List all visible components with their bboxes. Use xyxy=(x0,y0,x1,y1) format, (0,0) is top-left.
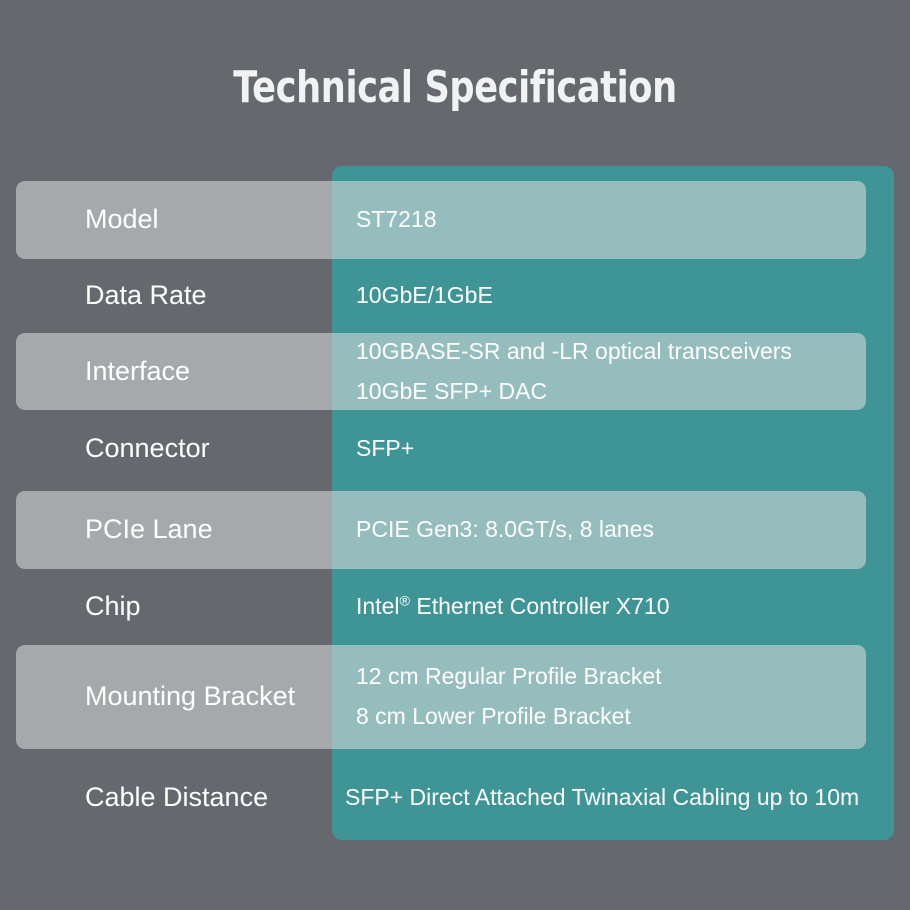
value-line: 10GbE SFP+ DAC xyxy=(356,372,886,412)
value-line: ST7218 xyxy=(356,200,886,240)
spec-label-mounting-bracket: Mounting Bracket xyxy=(85,645,325,749)
spec-value-mounting-bracket: 12 cm Regular Profile Bracket 8 cm Lower… xyxy=(356,645,886,749)
spec-value-connector: SFP+ xyxy=(356,410,886,488)
spec-value-model: ST7218 xyxy=(356,181,886,259)
table-row: PCIe Lane PCIE Gen3: 8.0GT/s, 8 lanes xyxy=(0,491,910,569)
table-row: Data Rate 10GbE/1GbE xyxy=(0,259,910,333)
specification-table: Model ST7218 Data Rate 10GbE/1GbE Interf… xyxy=(0,0,910,910)
table-row: Chip Intel® Ethernet Controller X710 xyxy=(0,569,910,645)
spec-label-data-rate: Data Rate xyxy=(85,259,325,333)
spec-label-connector: Connector xyxy=(85,410,325,488)
technical-specification-page: Technical Specification Model ST7218 Dat… xyxy=(0,0,910,910)
value-line: 10GBASE-SR and -LR optical transceivers xyxy=(356,332,886,372)
value-line: 12 cm Regular Profile Bracket xyxy=(356,657,886,697)
value-line: 8 cm Lower Profile Bracket xyxy=(356,697,886,737)
spec-label-interface: Interface xyxy=(85,333,325,410)
spec-label-cable-distance: Cable Distance xyxy=(85,755,325,840)
value-line: Intel® Ethernet Controller X710 xyxy=(356,587,886,627)
table-row: Mounting Bracket 12 cm Regular Profile B… xyxy=(0,645,910,749)
table-row: Cable Distance SFP+ Direct Attached Twin… xyxy=(0,755,910,840)
value-line: PCIE Gen3: 8.0GT/s, 8 lanes xyxy=(356,510,886,550)
spec-value-chip: Intel® Ethernet Controller X710 xyxy=(356,569,886,645)
spec-label-pcie-lane: PCIe Lane xyxy=(85,491,325,569)
spec-value-cable-distance: SFP+ Direct Attached Twinaxial Cabling u… xyxy=(345,755,890,840)
spec-value-interface: 10GBASE-SR and -LR optical transceivers … xyxy=(356,333,886,410)
spec-value-data-rate: 10GbE/1GbE xyxy=(356,259,886,333)
spec-label-model: Model xyxy=(85,181,325,259)
value-line: 10GbE/1GbE xyxy=(356,276,886,316)
spec-value-pcie-lane: PCIE Gen3: 8.0GT/s, 8 lanes xyxy=(356,491,886,569)
table-row: Model ST7218 xyxy=(0,181,910,259)
spec-label-chip: Chip xyxy=(85,569,325,645)
value-line: SFP+ xyxy=(356,429,886,469)
value-line: SFP+ Direct Attached Twinaxial Cabling u… xyxy=(345,778,890,818)
table-row: Interface 10GBASE-SR and -LR optical tra… xyxy=(0,333,910,410)
table-row: Connector SFP+ xyxy=(0,410,910,488)
